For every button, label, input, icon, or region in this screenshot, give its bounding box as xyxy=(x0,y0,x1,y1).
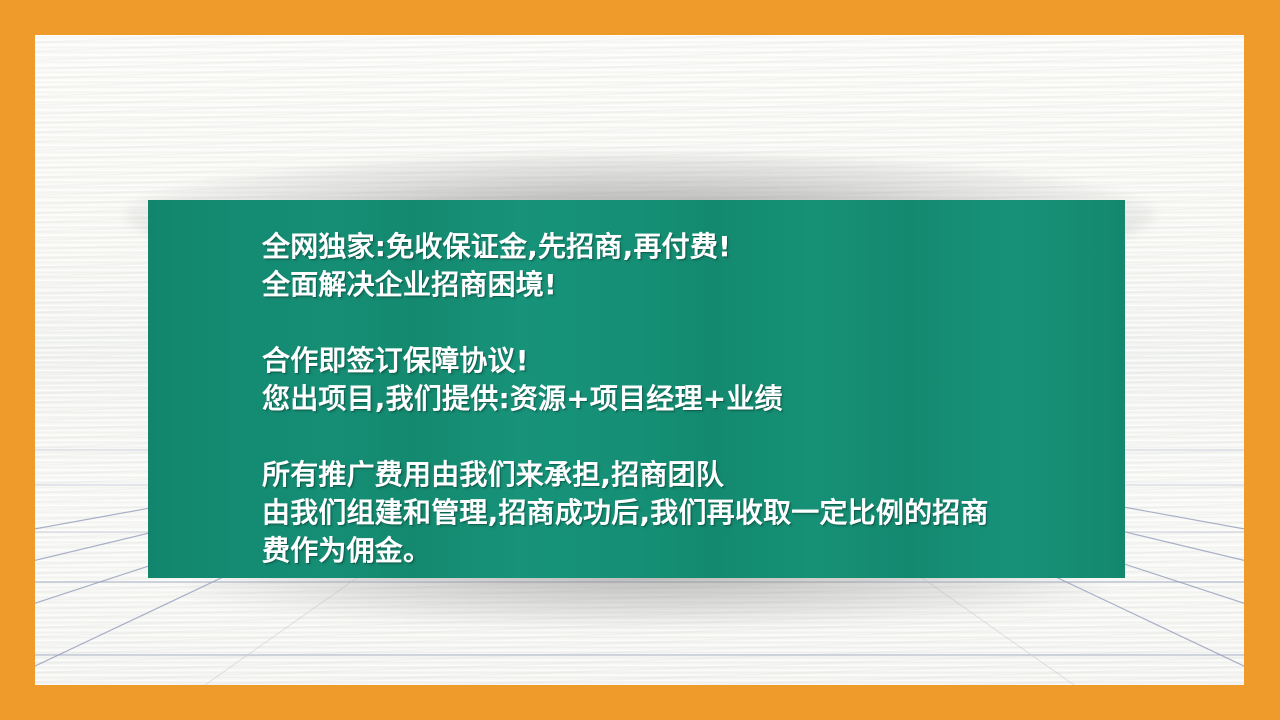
offer-line-1: 合作即签订保障协议! xyxy=(262,342,1105,380)
room-backdrop: 全网独家:免收保证金,先招商,再付费! 全面解决企业招商困境! 合作即签订保障协… xyxy=(35,35,1244,685)
paragraph-spacer-1 xyxy=(148,304,1125,342)
terms-line-2: 由我们组建和管理,招商成功后,我们再收取一定比例的招商 xyxy=(262,494,1105,532)
terms-line-3: 费作为佣金。 xyxy=(262,532,1105,570)
offer-paragraph: 合作即签订保障协议! 您出项目,我们提供:资源+项目经理+业绩 xyxy=(148,342,1125,418)
terms-paragraph: 所有推广费用由我们来承担,招商团队 由我们组建和管理,招商成功后,我们再收取一定… xyxy=(148,456,1125,570)
terms-line-1: 所有推广费用由我们来承担,招商团队 xyxy=(262,456,1105,494)
paragraph-spacer-2 xyxy=(148,418,1125,456)
slide-canvas: 全网独家:免收保证金,先招商,再付费! 全面解决企业招商困境! 合作即签订保障协… xyxy=(0,0,1280,720)
promo-text-card: 全网独家:免收保证金,先招商,再付费! 全面解决企业招商困境! 合作即签订保障协… xyxy=(148,200,1125,578)
offer-line-2: 您出项目,我们提供:资源+项目经理+业绩 xyxy=(262,380,1105,418)
headline-paragraph: 全网独家:免收保证金,先招商,再付费! 全面解决企业招商困境! xyxy=(148,228,1125,304)
headline-line-2: 全面解决企业招商困境! xyxy=(262,266,1105,304)
headline-line-1: 全网独家:免收保证金,先招商,再付费! xyxy=(262,228,1105,266)
